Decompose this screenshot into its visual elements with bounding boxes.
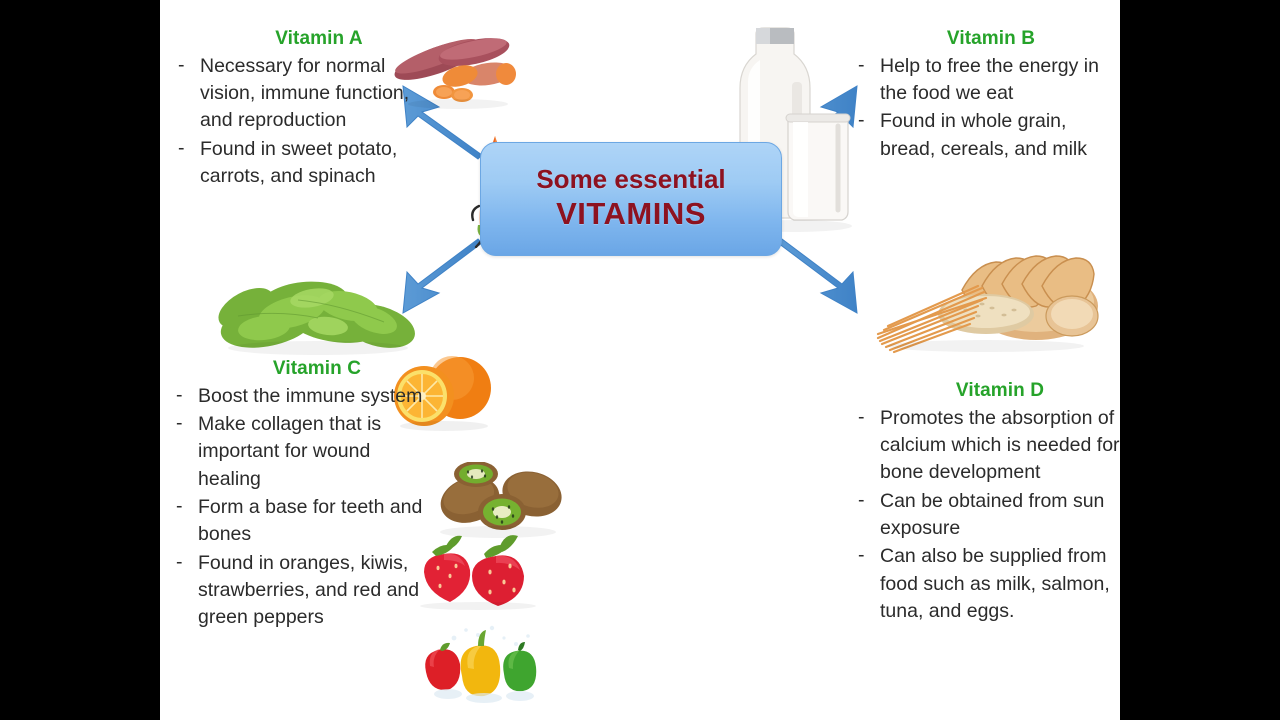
list-item-text: Can also be supplied from food such as m… <box>880 545 1110 622</box>
center-line-2: VITAMINS <box>556 195 706 232</box>
bullet-dash: - <box>858 487 865 514</box>
bullet-dash: - <box>858 52 865 79</box>
slide-canvas: Some essential VITAMINS Vitamin A -Neces… <box>160 0 1120 720</box>
bullet-dash: - <box>176 493 183 520</box>
list-item-text: Make collagen that is important for woun… <box>198 413 381 490</box>
bullet-dash: - <box>176 410 183 437</box>
vitamin-a-title: Vitamin A <box>170 28 440 51</box>
list-item: -Form a base for teeth and bones <box>168 494 436 549</box>
vitamin-a-block: Vitamin A -Necessary for normal vision, … <box>170 28 440 191</box>
arrow-to-vitamin-d <box>778 239 857 313</box>
list-item-text: Boost the immune system <box>198 385 422 407</box>
bullet-dash: - <box>858 542 865 569</box>
vitamin-c-list: -Boost the immune system -Make collagen … <box>168 383 436 632</box>
list-item: -Promotes the absorption of calcium whic… <box>850 405 1122 487</box>
vitamin-d-block: Vitamin D -Promotes the absorption of ca… <box>850 380 1122 626</box>
bullet-dash: - <box>858 404 865 431</box>
vitamin-d-title: Vitamin D <box>850 380 1122 403</box>
spinach-photo <box>208 268 428 360</box>
vitamin-d-list: -Promotes the absorption of calcium whic… <box>850 405 1122 625</box>
bullet-dash: - <box>858 107 865 134</box>
bullet-dash: - <box>178 52 185 79</box>
list-item: -Help to free the energy in the food we … <box>850 53 1110 108</box>
list-item-text: Form a base for teeth and bones <box>198 496 422 545</box>
list-item-text: Found in sweet potato, carrots, and spin… <box>200 138 397 187</box>
list-item: -Found in sweet potato, carrots, and spi… <box>170 136 440 191</box>
vitamin-a-list: -Necessary for normal vision, immune fun… <box>170 53 440 190</box>
center-node[interactable]: Some essential VITAMINS <box>480 142 782 256</box>
list-item-text: Necessary for normal vision, immune func… <box>200 55 409 132</box>
list-item-text: Found in oranges, kiwis, strawberries, a… <box>198 552 419 629</box>
list-item: -Make collagen that is important for wou… <box>168 411 436 493</box>
vitamin-b-title: Vitamin B <box>850 28 1110 51</box>
list-item-text: Found in whole grain, bread, cereals, an… <box>880 110 1087 159</box>
center-line-1: Some essential <box>536 165 725 195</box>
list-item: -Can be obtained from sun exposure <box>850 488 1122 543</box>
vitamin-c-title: Vitamin C <box>168 358 436 381</box>
list-item-text: Can be obtained from sun exposure <box>880 490 1104 539</box>
list-item: -Necessary for normal vision, immune fun… <box>170 53 440 135</box>
list-item: -Can also be supplied from food such as … <box>850 543 1122 625</box>
vitamin-b-list: -Help to free the energy in the food we … <box>850 53 1110 163</box>
bell-peppers-photo <box>408 622 568 704</box>
vitamin-c-block: Vitamin C -Boost the immune system -Make… <box>168 358 436 632</box>
vitamin-b-block: Vitamin B -Help to free the energy in th… <box>850 28 1110 164</box>
list-item: -Found in oranges, kiwis, strawberries, … <box>168 550 436 632</box>
list-item-text: Help to free the energy in the food we e… <box>880 55 1099 104</box>
bullet-dash: - <box>176 382 183 409</box>
bullet-dash: - <box>176 549 183 576</box>
list-item: -Found in whole grain, bread, cereals, a… <box>850 108 1110 163</box>
slide-stage: Some essential VITAMINS Vitamin A -Neces… <box>0 0 1280 720</box>
bullet-dash: - <box>178 135 185 162</box>
list-item: -Boost the immune system <box>168 383 436 410</box>
list-item-text: Promotes the absorption of calcium which… <box>880 407 1120 484</box>
bread-and-grains-photo <box>866 244 1106 356</box>
